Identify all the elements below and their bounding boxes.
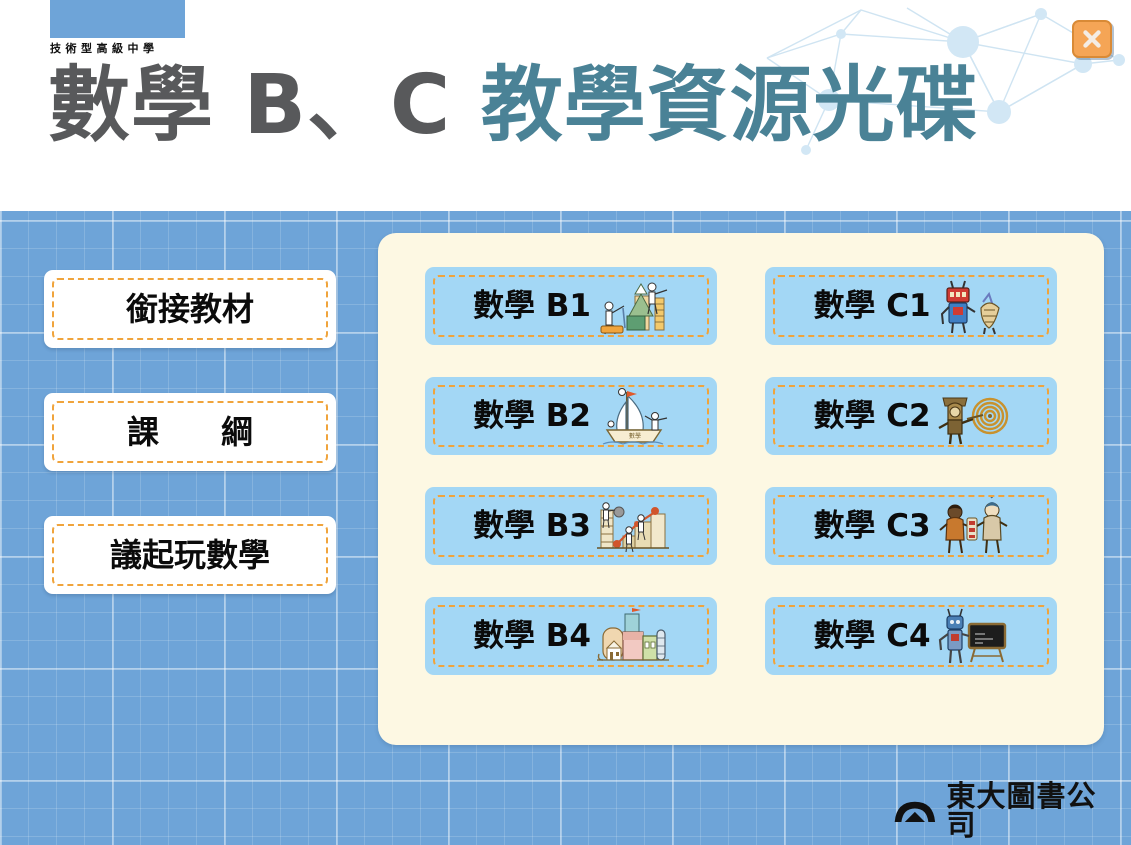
book-button-math-b4[interactable]: 數學 B4 xyxy=(425,597,717,675)
two-characters-icon xyxy=(937,496,1009,556)
book-button-label: 數學 C1 xyxy=(813,291,930,322)
robot-blackboard-icon xyxy=(937,606,1009,666)
book-button-math-b3[interactable]: 數學 B3 xyxy=(425,487,717,565)
sidebar-item-curriculum-guidelines[interactable]: 課綱 xyxy=(44,393,336,471)
close-icon xyxy=(1081,28,1103,50)
surveying-figures-icon xyxy=(597,276,669,336)
book-button-math-b1[interactable]: 數學 B1 xyxy=(425,267,717,345)
sidebar-item-play-math[interactable]: 議起玩數學 xyxy=(44,516,336,594)
book-button-label: 數學 B3 xyxy=(473,511,591,542)
figure-and-target-icon xyxy=(937,386,1009,446)
sailboat-icon: 數學 xyxy=(597,386,669,446)
sidebar-item-label: 議起玩數學 xyxy=(110,539,270,571)
books-panel: 數學 B1 xyxy=(378,233,1104,745)
header-banner: 技術型高級中學 數學 B、C 教學資源光碟 xyxy=(0,0,1131,211)
sidebar: 銜接教材 課綱 議起玩數學 xyxy=(44,270,336,639)
book-button-math-c2[interactable]: 數學 C2 xyxy=(765,377,1057,455)
books-grid: 數學 B1 xyxy=(425,267,1057,675)
construction-crane-icon xyxy=(597,496,669,556)
publisher-logo: 東大圖書公司 xyxy=(893,788,1098,834)
robot-and-figure-icon xyxy=(937,276,1009,336)
publisher-name: 東大圖書公司 xyxy=(946,782,1098,840)
sidebar-item-label: 課綱 xyxy=(127,416,253,448)
sidebar-item-bridging-materials[interactable]: 銜接教材 xyxy=(44,270,336,348)
book-button-label: 數學 C4 xyxy=(813,621,930,652)
book-button-label: 數學 C3 xyxy=(813,511,930,542)
svg-text:數學: 數學 xyxy=(629,432,641,440)
book-button-math-c1[interactable]: 數學 C1 xyxy=(765,267,1057,345)
sidebar-item-label: 銜接教材 xyxy=(126,293,254,325)
page-title: 數學 B、C 教學資源光碟 xyxy=(48,52,979,160)
school-logo-mark xyxy=(50,0,185,38)
book-button-label: 數學 B4 xyxy=(473,621,591,652)
school-logo: 技術型高級中學 xyxy=(50,0,185,52)
arch-mountain-logo-icon xyxy=(893,794,938,828)
sidebar-item-label-b: 綱 xyxy=(221,413,253,451)
book-button-label: 數學 C2 xyxy=(813,401,930,432)
book-button-label: 數學 B2 xyxy=(473,401,591,432)
page-title-primary: 數學 B、C xyxy=(48,58,481,153)
book-button-math-c4[interactable]: 數學 C4 xyxy=(765,597,1057,675)
sidebar-item-label-a: 課 xyxy=(127,413,159,451)
close-button[interactable] xyxy=(1072,20,1112,58)
page-title-secondary: 教學資源光碟 xyxy=(481,58,979,153)
book-button-math-c3[interactable]: 數學 C3 xyxy=(765,487,1057,565)
city-buildings-icon xyxy=(597,606,669,666)
book-button-math-b2[interactable]: 數學 B2 數學 xyxy=(425,377,717,455)
book-button-label: 數學 B1 xyxy=(473,291,591,322)
